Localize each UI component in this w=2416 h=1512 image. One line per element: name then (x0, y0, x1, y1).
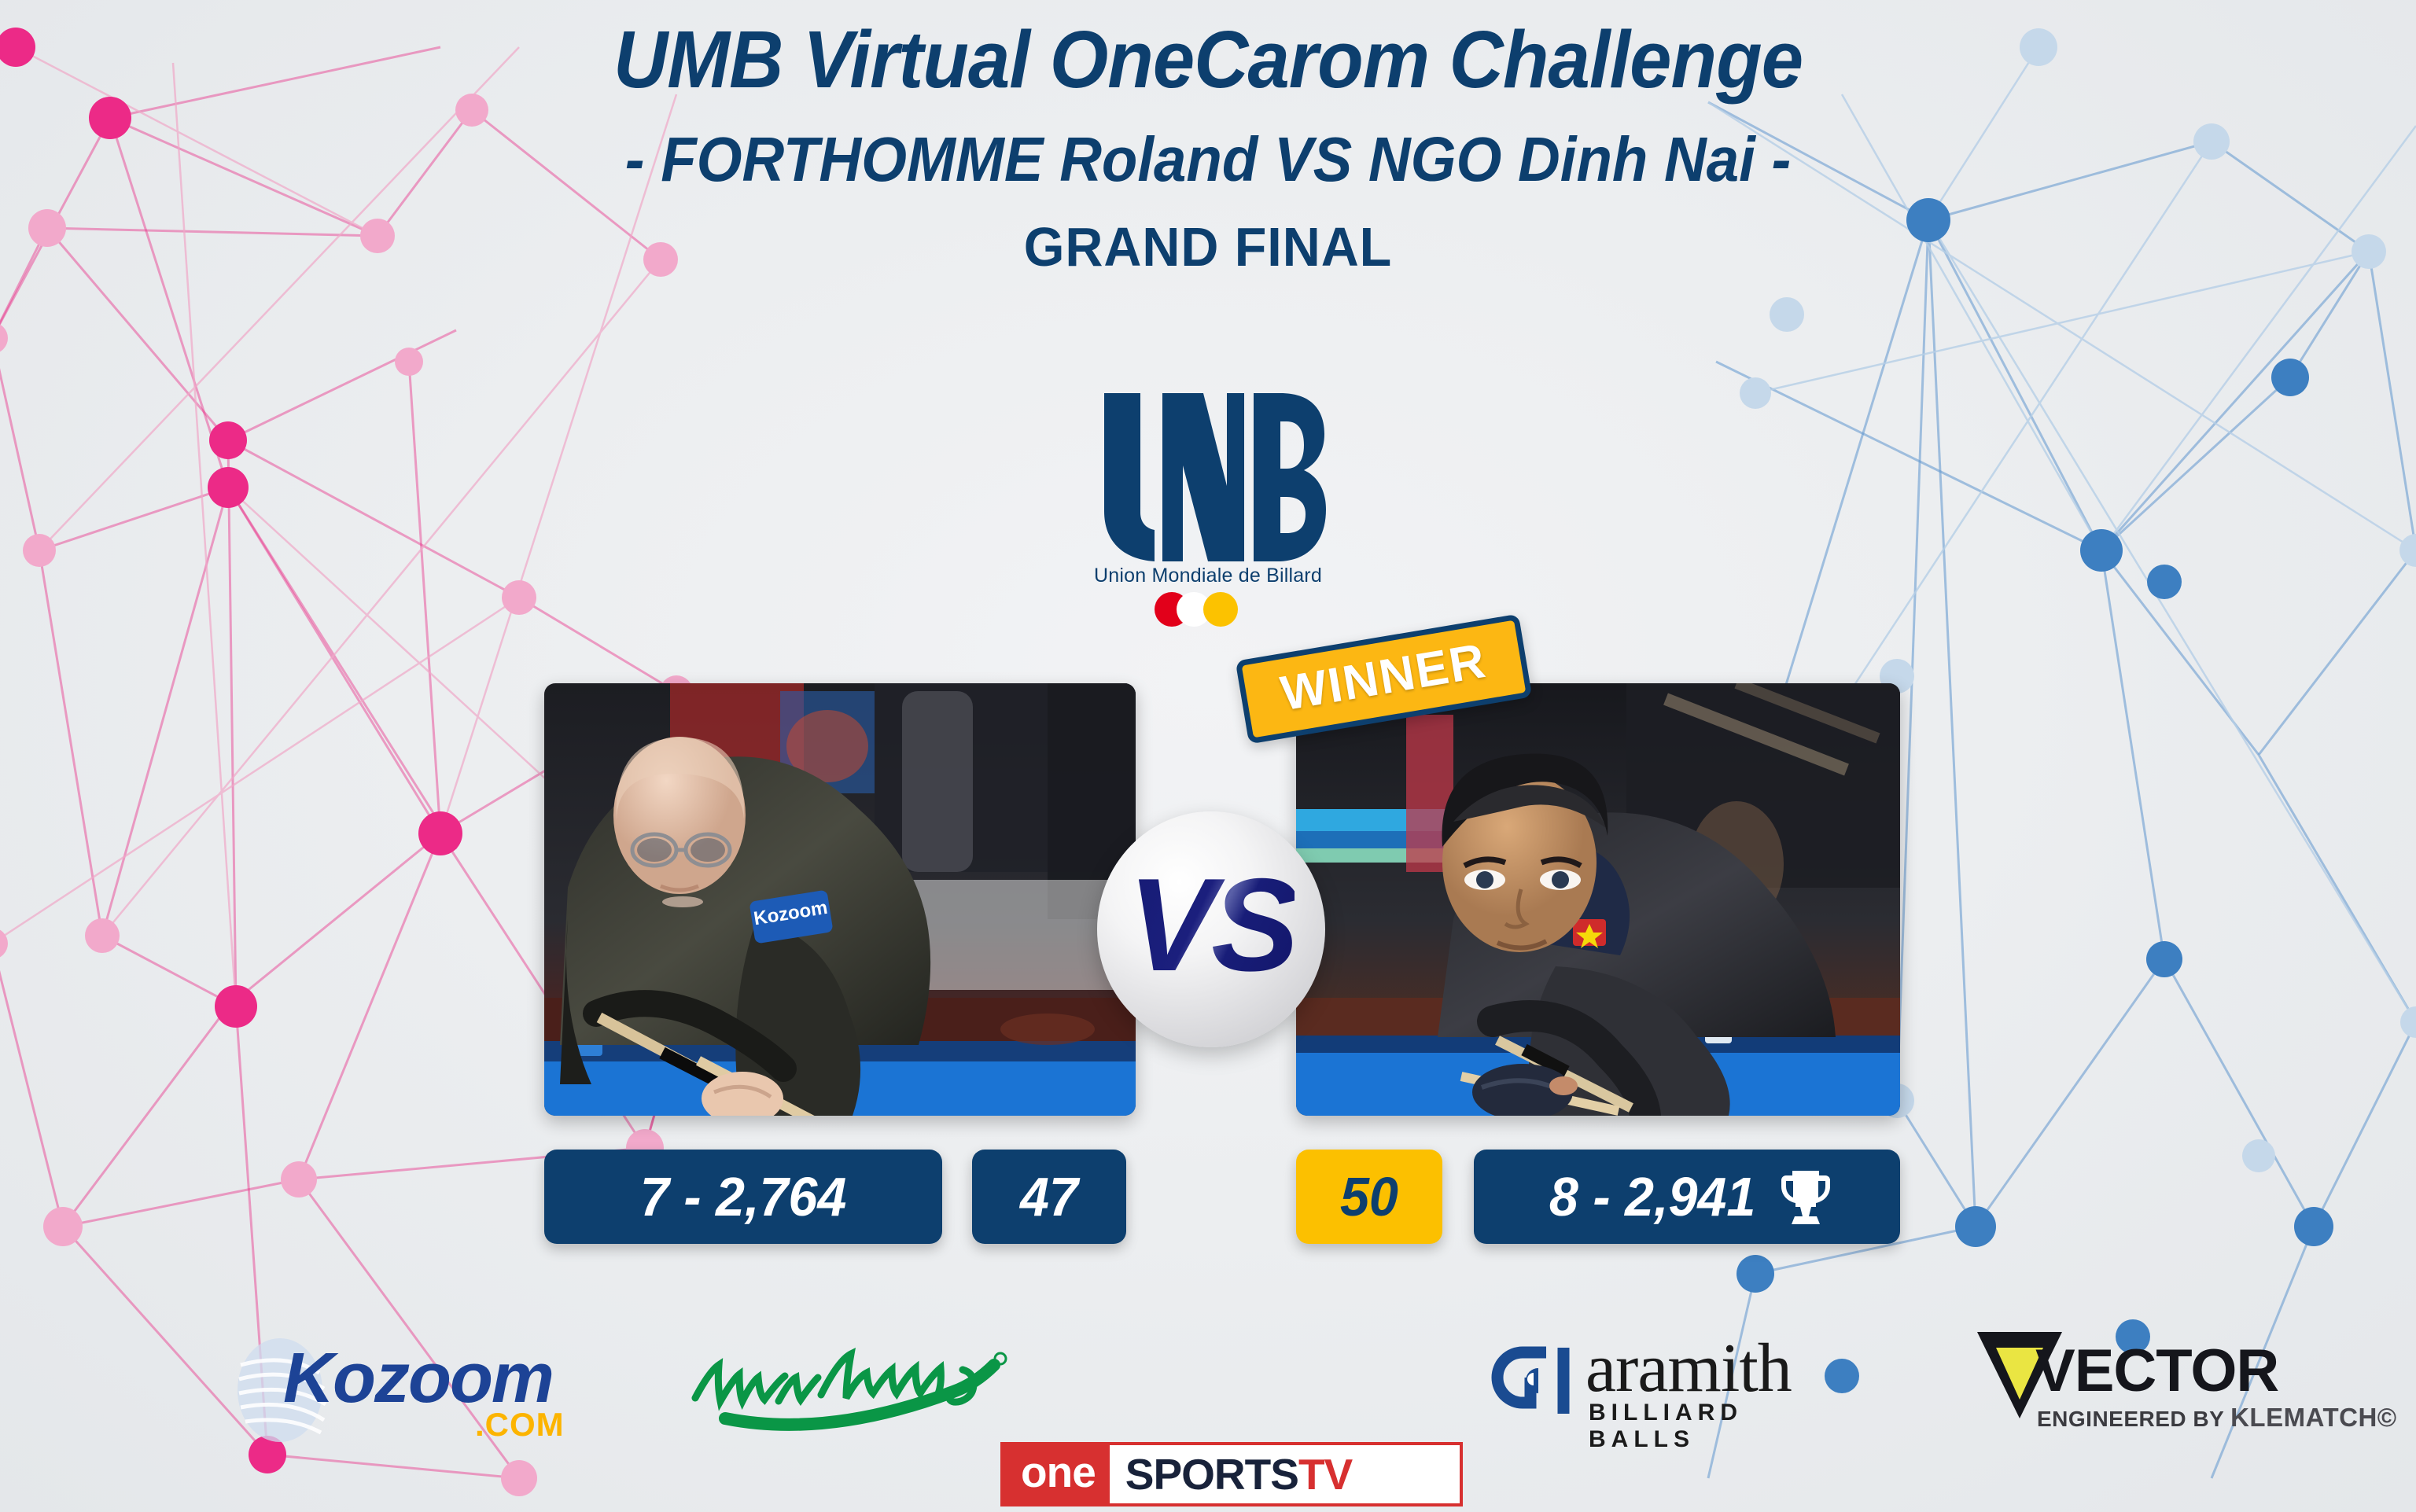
iwan-simonis-signature-icon (686, 1346, 1016, 1433)
vector-wordmark: VECTOR (2035, 1337, 2278, 1405)
onesportstv-one: one (1004, 1445, 1110, 1503)
matchup-line: - FORTHOMME Roland VS NGO Dinh Nai - (85, 128, 2332, 191)
aramith-spiral-icon (1486, 1340, 1574, 1422)
sponsor-aramith[interactable]: aramith BILLIARD BALLS (1486, 1338, 1856, 1440)
right-player-score: 50 (1340, 1165, 1398, 1228)
player-photo-right[interactable] (1296, 683, 1900, 1116)
event-title: UMB Virtual OneCarom Challenge (85, 19, 2332, 100)
left-player-stats-chip: 7 - 2,764 (544, 1150, 942, 1244)
umb-subtitle: Union Mondiale de Billard (1082, 565, 1334, 587)
right-player-stats-chip: 8 - 2,941 (1474, 1150, 1900, 1244)
stage-label: GRAND FINAL (61, 219, 2355, 274)
versus-badge: VS (1097, 811, 1325, 1047)
aramith-tagline: BILLIARD BALLS (1589, 1400, 1856, 1453)
headline-block: UMB Virtual OneCarom Challenge - FORTHOM… (0, 19, 2416, 274)
right-player-score-chip: 50 (1296, 1150, 1442, 1244)
umb-balls-icon (1082, 592, 1334, 628)
ball-yellow-icon (1203, 592, 1238, 627)
player-photo-left[interactable]: Kozoom (544, 683, 1136, 1116)
left-player-score-chip: 47 (972, 1150, 1126, 1244)
aramith-wordmark: aramith (1585, 1329, 1792, 1408)
vector-tagline-prefix: ENGINEERED BY (2037, 1407, 2230, 1431)
winner-label: WINNER (1277, 635, 1490, 720)
forthomme-roland-photo: Kozoom (544, 683, 1136, 1116)
sponsor-row: Kozoom .COM one SPORTS TV (0, 1327, 2416, 1512)
vector-tagline-brand: KLEMATCH© (2230, 1403, 2397, 1432)
sponsor-onesportstv[interactable]: one SPORTS TV (1000, 1442, 1463, 1506)
left-player-innings-average: 7 - 2,764 (640, 1165, 846, 1228)
versus-label: VS (1128, 849, 1295, 1001)
sponsor-vector[interactable]: VECTOR ENGINEERED BY KLEMATCH© (1972, 1334, 2303, 1440)
onesportstv-tv: TV (1298, 1445, 1352, 1503)
vector-tagline: ENGINEERED BY KLEMATCH© (2037, 1403, 2397, 1433)
sponsor-kozoom[interactable]: Kozoom .COM (225, 1334, 618, 1444)
sponsor-simonis[interactable] (686, 1346, 1016, 1433)
right-player-innings-average: 8 - 2,941 (1549, 1165, 1755, 1228)
kozoom-tld: .COM (475, 1406, 565, 1444)
poster-canvas: UMB Virtual OneCarom Challenge - FORTHOM… (0, 0, 2416, 1512)
left-player-score: 47 (1020, 1165, 1078, 1228)
umb-monogram-icon (1090, 387, 1326, 568)
onesportstv-sports: SPORTS (1110, 1445, 1298, 1503)
umb-logo: Union Mondiale de Billard (1082, 387, 1334, 628)
trophy-icon (1781, 1168, 1830, 1226)
ngo-dinh-nai-photo (1296, 683, 1900, 1116)
score-row: 7 - 2,764 47 50 8 - 2,941 (0, 1150, 2416, 1250)
